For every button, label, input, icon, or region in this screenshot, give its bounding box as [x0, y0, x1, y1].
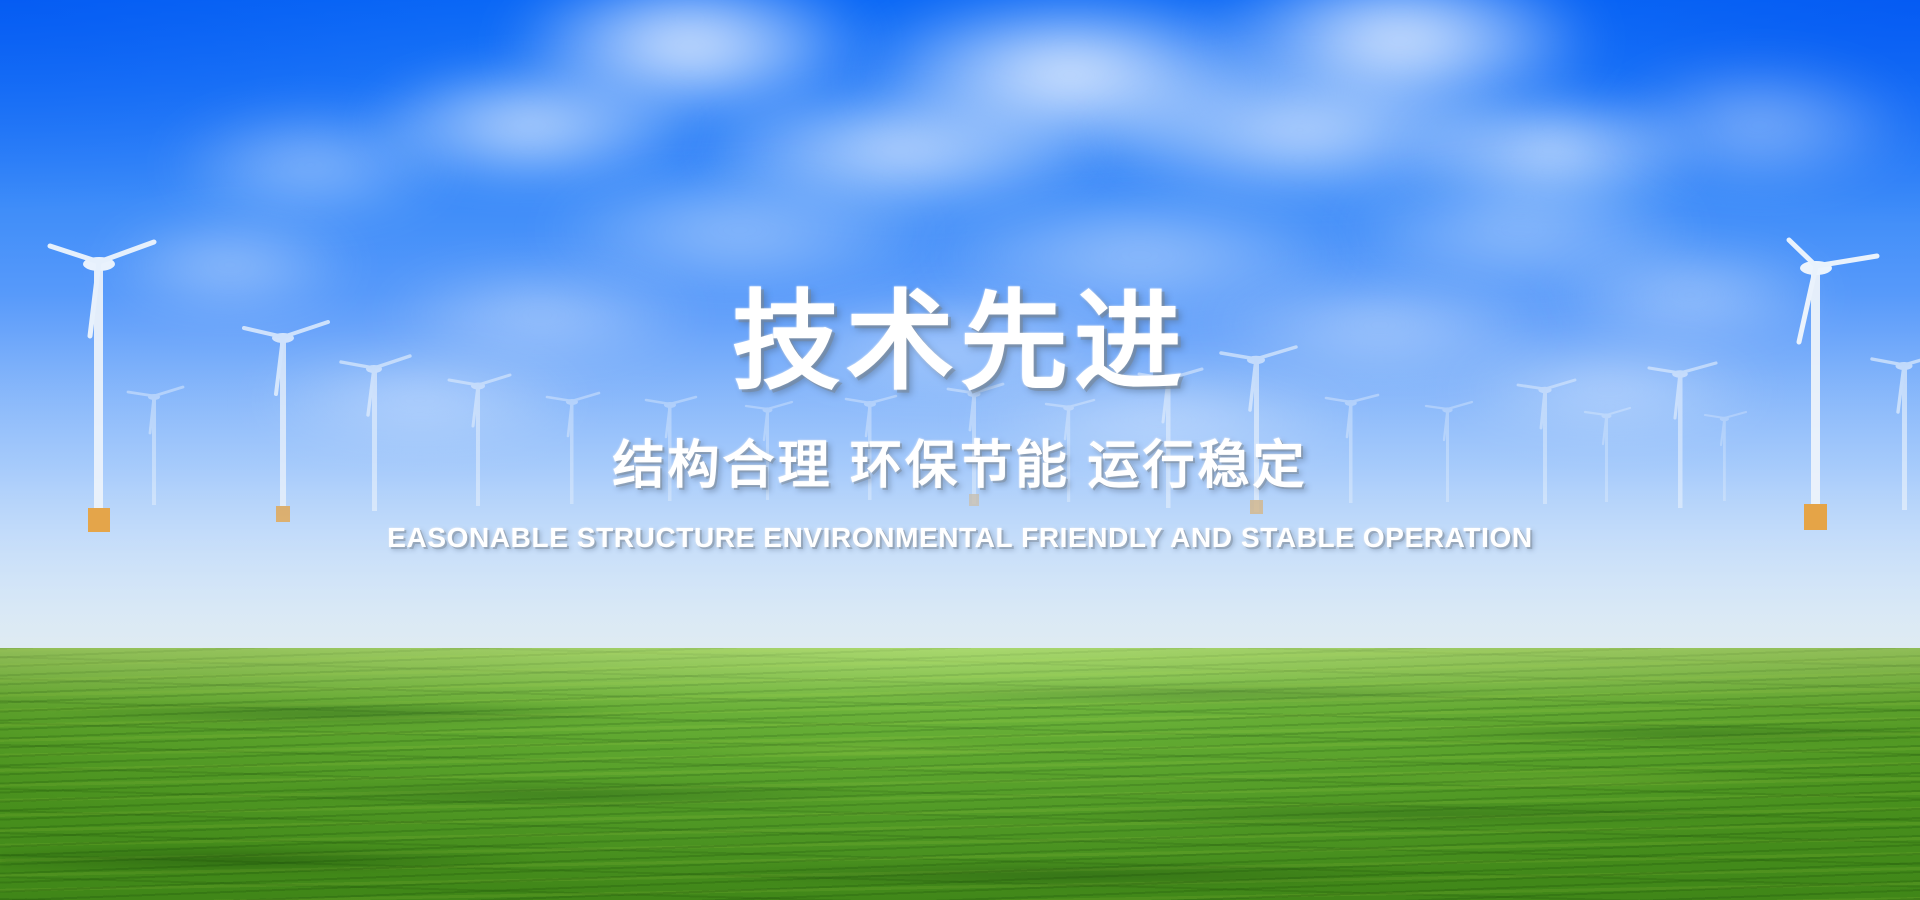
wind-turbine-icon [440, 372, 518, 512]
wind-turbine-icon [1510, 378, 1582, 510]
wind-turbine-icon [740, 400, 798, 504]
wind-turbine-field [0, 0, 1920, 660]
wind-turbine-icon [1862, 350, 1920, 516]
wind-turbine-icon [840, 393, 902, 505]
wind-turbine-icon [1320, 392, 1384, 508]
wind-turbine-icon [330, 353, 420, 518]
hero-banner: 技术先进 结构合理 环保节能 运行稳定 EASONABLE STRUCTURE … [0, 0, 1920, 900]
wind-turbine-icon [640, 394, 702, 506]
wind-turbine-icon [1700, 410, 1752, 504]
grass-vignette [0, 648, 1920, 900]
wind-turbine-icon [1580, 406, 1636, 506]
wind-turbine-icon [230, 318, 340, 528]
wind-turbine-icon [540, 390, 606, 508]
grass-field [0, 648, 1920, 900]
wind-turbine-icon [120, 385, 190, 510]
wind-turbine-icon [1040, 398, 1100, 506]
wind-turbine-icon [1420, 400, 1478, 506]
wind-turbine-icon [940, 382, 1010, 510]
wind-turbine-icon [1130, 366, 1210, 514]
wind-turbine-icon [1210, 344, 1306, 520]
